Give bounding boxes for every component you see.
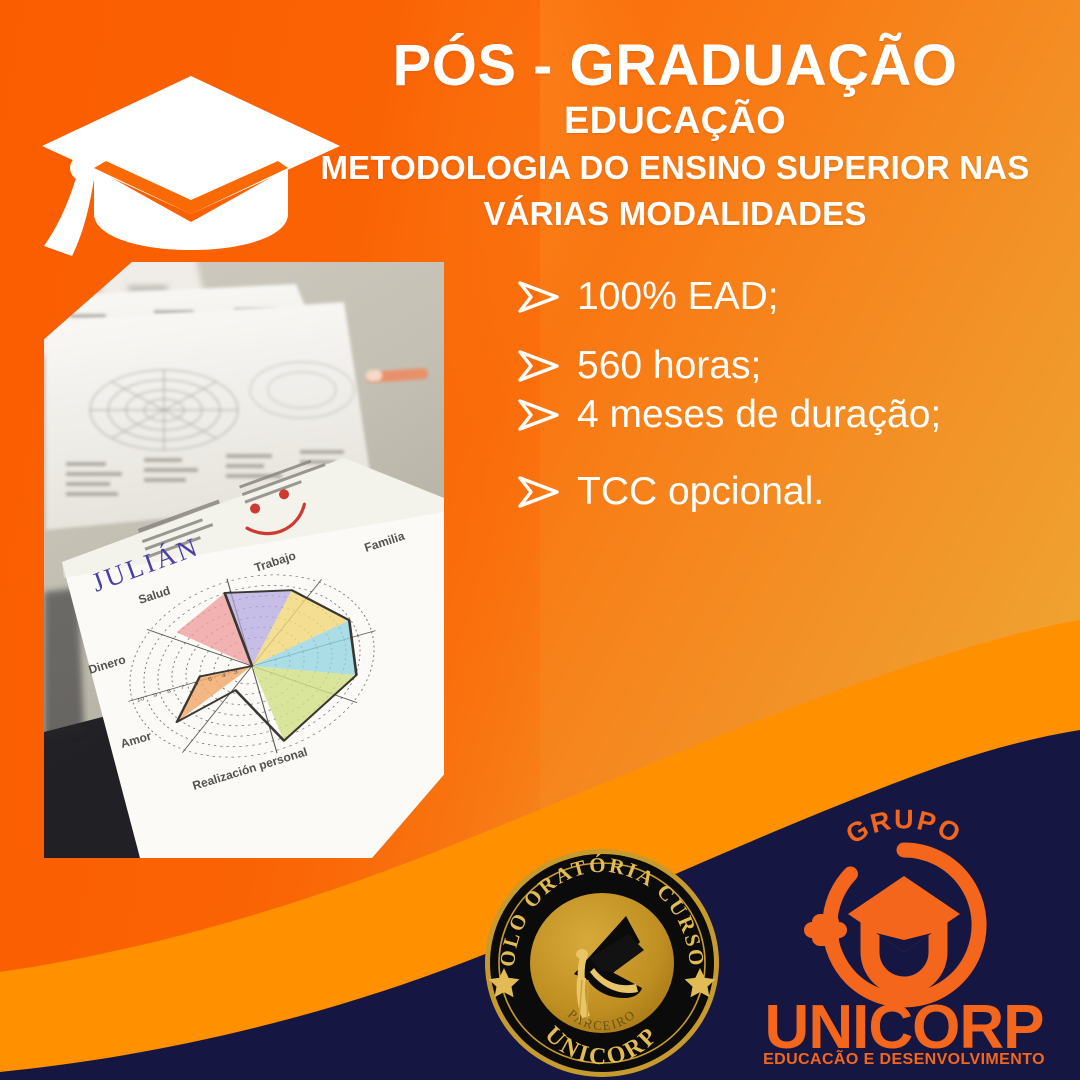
course-name-line-1: METODOLOGIA DO ENSINO SUPERIOR NAS: [280, 147, 1070, 189]
arrow-bullet-icon: [515, 346, 561, 386]
arrow-bullet-icon: [515, 395, 561, 435]
course-photo: JULIÁN: [44, 262, 444, 858]
arrow-bullet-icon: [515, 277, 561, 317]
page-subtitle: EDUCAÇÃO: [280, 101, 1070, 143]
list-item-label: 560 horas;: [577, 345, 761, 388]
unicorp-tagline: EDUCAÇÃO E DESENVOLVIMENTO: [763, 1048, 1045, 1064]
partner-seal-logo: POLO ORATÓRIA CURSOS UNICORP PARCEIRO: [478, 846, 726, 1080]
graduation-cap-ring-icon: [804, 850, 979, 1000]
list-item: 560 horas;: [515, 345, 1075, 388]
course-name-line-2: VÁRIAS MODALIDADES: [280, 193, 1070, 235]
heading-block: PÓS - GRADUAÇÃO EDUCAÇÃO METODOLOGIA DO …: [280, 36, 1070, 235]
feature-list: 100% EAD; 560 horas; 4 meses de duração;: [515, 276, 1075, 540]
list-item-label: TCC opcional.: [577, 471, 824, 514]
list-item: 100% EAD;: [515, 276, 1075, 319]
page-title: PÓS - GRADUAÇÃO: [280, 36, 1070, 95]
list-item-label: 100% EAD;: [577, 276, 779, 319]
unicorp-logo: GRUPO UNICORP EDUCAÇÃO E DESENVOLVIMENTO: [748, 802, 1060, 1064]
list-item-label: 4 meses de duração;: [577, 394, 941, 437]
list-item: TCC opcional.: [515, 471, 1075, 514]
arrow-bullet-icon: [515, 472, 561, 512]
poster: PÓS - GRADUAÇÃO EDUCAÇÃO METODOLOGIA DO …: [0, 0, 1080, 1080]
list-item: 4 meses de duração;: [515, 394, 1075, 437]
